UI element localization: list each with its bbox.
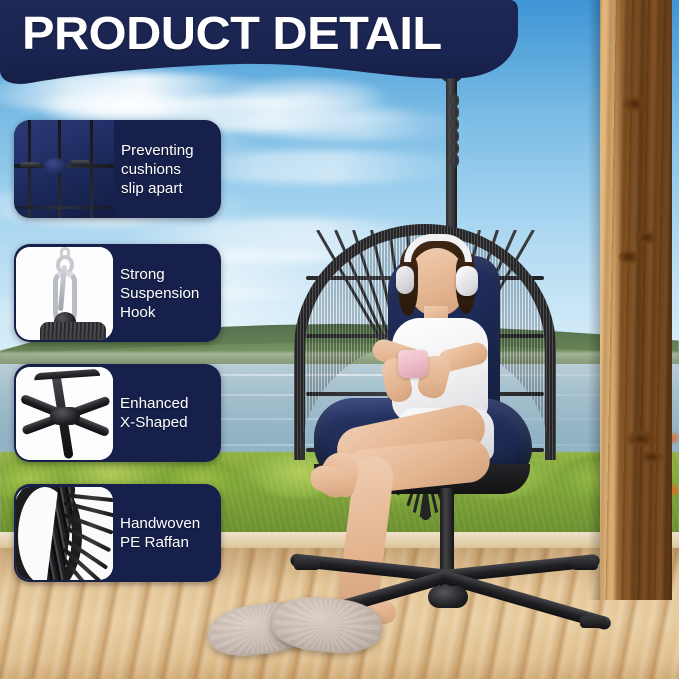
pink-mug [398,350,428,378]
carabiner-hook-photo-icon [16,247,113,340]
x-shaped-base-photo-icon [16,367,113,460]
suspension-chain-link [450,154,459,167]
feature-card-handwoven-pe-raffan[interactable]: Handwoven PE Raffan [14,484,221,582]
page-title: PRODUCT DETAIL [22,8,520,58]
feature-card-strong-suspension-hook[interactable]: Strong Suspension Hook [14,244,221,342]
feature-card-enhanced-x-shaped[interactable]: Enhanced X-Shaped [14,364,221,462]
headphone-cup-left [396,266,414,294]
feature-label: Strong Suspension Hook [113,265,221,322]
base-foot-front-right [580,616,606,628]
cushion-strap-photo-icon [14,120,114,218]
product-detail-image: PRODUCT DETAIL Preventing cushions slip … [0,0,679,679]
feature-card-preventing-cushions-slip-apart[interactable]: Preventing cushions slip apart [14,120,221,218]
wooden-post [600,0,672,600]
base-foot-right [572,558,598,570]
woven-rattan-photo-icon [16,487,113,580]
feature-label: Handwoven PE Raffan [113,514,221,552]
base-foot-left [294,558,320,570]
base-hub [428,586,468,608]
headphone-cup-right [456,266,478,296]
hanging-egg-chair [280,60,580,620]
feature-label: Preventing cushions slip apart [114,141,221,198]
feature-label: Enhanced X-Shaped [113,394,221,432]
